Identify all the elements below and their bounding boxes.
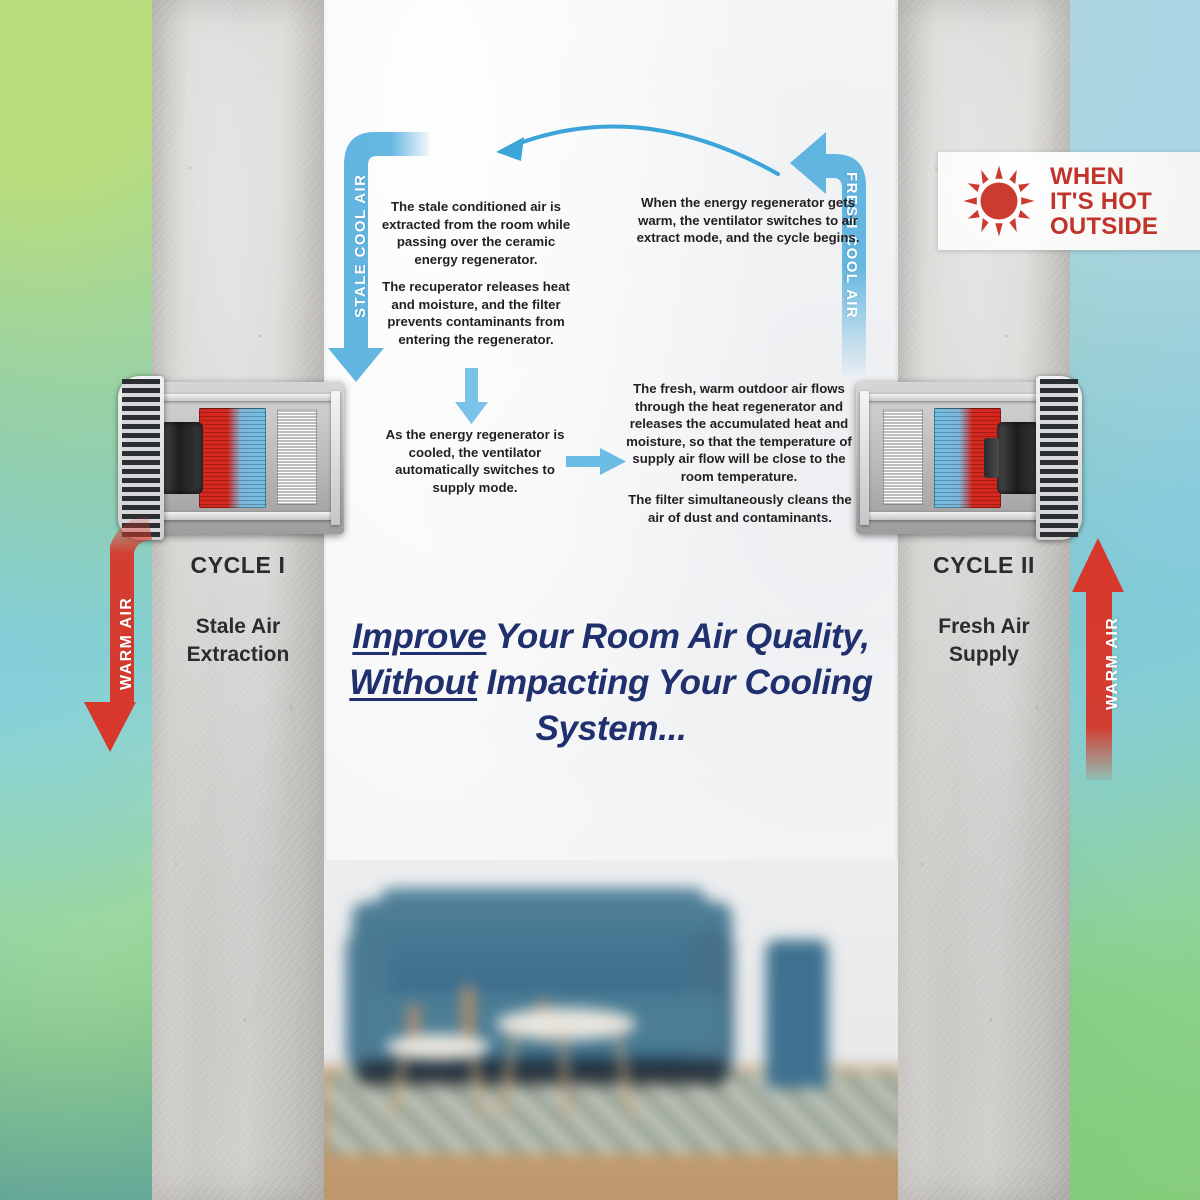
ventilator-device-left: [148, 382, 344, 534]
air-filter-left: [277, 409, 316, 505]
living-room-photo: [324, 860, 898, 1200]
cycle-left-subtitle-line1: Stale Air: [196, 615, 280, 638]
step-1-text: The stale conditioned air is extracted f…: [378, 198, 574, 268]
step-2-text: As the energy regenerator is cooled, the…: [382, 426, 568, 496]
step-3-text: The fresh, warm outdoor air flows throug…: [626, 380, 852, 485]
sun-icon: [962, 164, 1036, 238]
headline-part-2: Your Room Air Quality,: [486, 617, 869, 656]
interior-room-panel: [324, 0, 898, 1200]
cycle-label-left: CYCLE I Stale Air Extraction: [152, 552, 324, 669]
step-4-text: When the energy regenerator gets warm, t…: [636, 194, 860, 247]
warm-air-left-label: WARM AIR: [118, 597, 136, 690]
cycle-label-right: CYCLE II Fresh Air Supply: [898, 552, 1070, 669]
headline-part-3: Impacting Your Cooling System...: [477, 663, 873, 748]
cycle-right-title: CYCLE II: [898, 552, 1070, 579]
warm-air-right-label: WARM AIR: [1104, 617, 1122, 710]
cycle-left-subtitle-line2: Extraction: [187, 643, 290, 666]
fan-motor-left: [160, 422, 203, 495]
cycle-right-subtitle: Fresh Air Supply: [898, 613, 1070, 669]
cycle-left-subtitle: Stale Air Extraction: [152, 613, 324, 669]
ventilator-device-right: [856, 382, 1052, 534]
badge-line-3: OUTSIDE: [1050, 214, 1158, 239]
air-filter-right: [883, 409, 922, 505]
fan-motor-right: [997, 422, 1040, 495]
cycle-right-subtitle-line1: Fresh Air: [938, 615, 1029, 638]
step-3b-text: The filter simultaneously cleans the air…: [628, 491, 852, 526]
page-title: Improve Your Room Air Quality, Without I…: [324, 614, 898, 752]
cycle-left-title: CYCLE I: [152, 552, 324, 579]
outdoor-grille-left: [118, 376, 164, 540]
stale-cool-air-label: STALE COOL AIR: [352, 174, 369, 318]
headline-emphasis-improve: Improve: [352, 617, 486, 656]
outdoor-grille-right: [1036, 376, 1082, 540]
headline-emphasis-without: Without: [349, 663, 477, 702]
infographic-canvas: STALE COOL AIR FRESH COOL AIR WARM AIR W…: [0, 0, 1200, 1200]
badge-text: WHEN IT'S HOT OUTSIDE: [1050, 164, 1158, 239]
hot-outside-badge: WHEN IT'S HOT OUTSIDE: [938, 152, 1200, 250]
cycle-right-subtitle-line2: Supply: [949, 643, 1019, 666]
badge-line-2: IT'S HOT: [1050, 189, 1158, 214]
badge-line-1: WHEN: [1050, 164, 1158, 189]
energy-regenerator-core-left: [199, 408, 266, 508]
step-1b-text: The recuperator releases heat and moistu…: [372, 278, 580, 348]
